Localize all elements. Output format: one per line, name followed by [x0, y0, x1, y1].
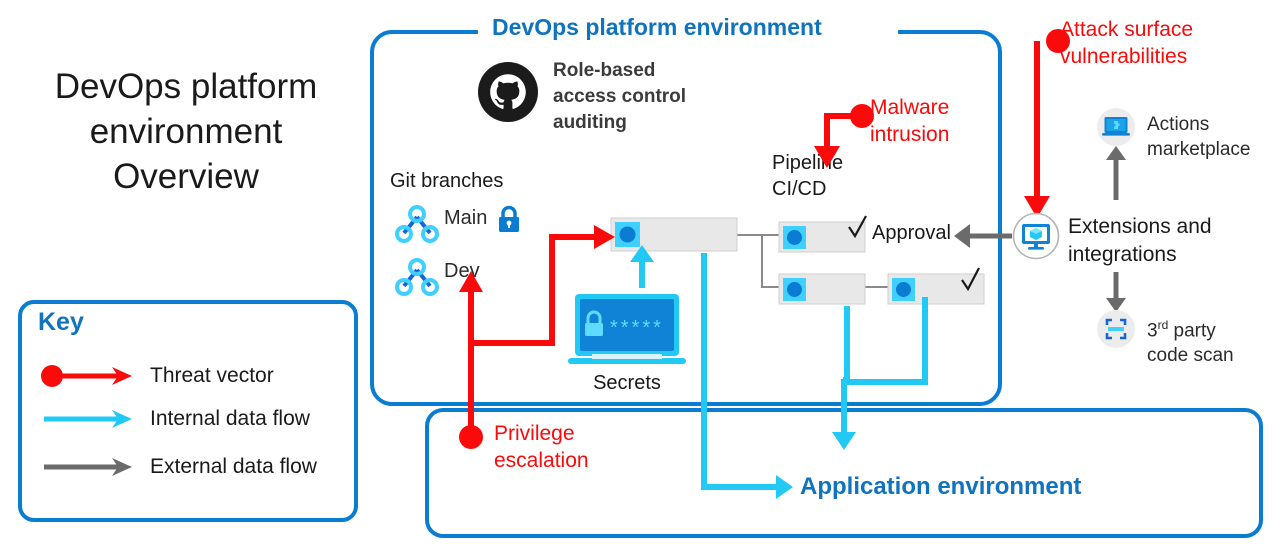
pipeline-stage-1	[611, 218, 737, 251]
threat-privilege-escalation	[471, 237, 596, 430]
threat-arrowhead	[459, 271, 483, 292]
threat-arrowhead	[814, 146, 840, 168]
code-scan-icon	[1097, 310, 1135, 348]
actions-marketplace-icon	[1097, 108, 1135, 146]
internal-data-flow-right	[844, 297, 925, 432]
threat-malware-label: Malwareintrusion	[870, 94, 949, 148]
extensions-integrations-label: Extensions andintegrations	[1068, 213, 1212, 269]
internal-data-flow-arrowhead-down	[832, 432, 856, 450]
internal-data-flow-arrowheads	[630, 245, 793, 499]
pipeline-stage-4	[888, 268, 984, 304]
code-scan-label: 3rd partycode scan	[1147, 313, 1234, 368]
approval-label: Approval	[872, 222, 951, 245]
pipeline-and-flow-layer	[0, 0, 1280, 549]
extensions-integrations-icon	[1012, 212, 1060, 260]
application-environment-title: Application environment	[800, 473, 1081, 501]
threat-attack-surface-label: Attack surfacevulnerabilities	[1060, 16, 1193, 70]
pipeline-stage-2	[779, 216, 866, 252]
pipeline-stage-3	[779, 274, 865, 304]
actions-marketplace-label: Actionsmarketplace	[1147, 112, 1251, 162]
threat-malware-intrusion	[827, 116, 855, 148]
threat-privilege-escalation-label: Privilegeescalation	[494, 420, 589, 474]
threat-dot	[459, 425, 483, 449]
